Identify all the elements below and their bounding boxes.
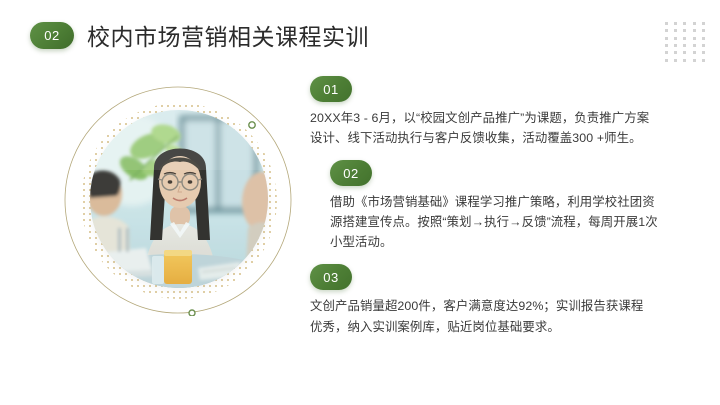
grid-dot bbox=[674, 37, 677, 40]
grid-dot bbox=[665, 22, 668, 25]
photo-decoration-group bbox=[62, 84, 294, 316]
grid-dot bbox=[693, 22, 696, 25]
grid-dot bbox=[683, 51, 686, 54]
block-number-badge-03: 03 bbox=[310, 264, 352, 290]
block-body-text-01: 20XX年3 - 6月，以“校园文创产品推广”为课题，负责推广方案设计、线下活动… bbox=[310, 108, 655, 148]
grid-dot bbox=[674, 59, 677, 62]
header-section-badge: 02 bbox=[30, 22, 74, 49]
content-block-02: 02 借助《市场营销基础》课程学习推广策略，利用学校社团资源搭建宣传点。按照“策… bbox=[330, 160, 670, 252]
page-title: 校内市场营销相关课程实训 bbox=[87, 18, 369, 52]
grid-dot bbox=[702, 44, 705, 47]
grid-dot bbox=[693, 44, 696, 47]
grid-dot bbox=[702, 22, 705, 25]
block-number-label: 03 bbox=[323, 270, 338, 285]
grid-dot bbox=[693, 59, 696, 62]
grid-dot bbox=[702, 37, 705, 40]
ring-marker-dot-bottom bbox=[189, 310, 195, 316]
grid-dot bbox=[693, 29, 696, 32]
block-number-label: 01 bbox=[323, 82, 338, 97]
grid-dot bbox=[702, 29, 705, 32]
grid-dot bbox=[702, 59, 705, 62]
grid-dot bbox=[665, 29, 668, 32]
grid-dot bbox=[683, 37, 686, 40]
slide-root: 02 校内市场营销相关课程实训 bbox=[0, 0, 720, 405]
grid-dot bbox=[674, 29, 677, 32]
grid-dot bbox=[665, 59, 668, 62]
grid-dot bbox=[674, 51, 677, 54]
grid-dot bbox=[674, 44, 677, 47]
grid-dot bbox=[665, 37, 668, 40]
block-body-text-02: 借助《市场营销基础》课程学习推广策略，利用学校社团资源搭建宣传点。按照“策划→执… bbox=[330, 192, 660, 252]
grid-dot bbox=[665, 51, 668, 54]
team-photo-illustration bbox=[90, 110, 268, 288]
dot-grid-decoration-icon bbox=[665, 22, 711, 66]
block-body-text-03: 文创产品销量超200件，客户满意度达92%；实训报告获课程优秀，纳入实训案例库，… bbox=[310, 296, 655, 336]
grid-dot bbox=[693, 51, 696, 54]
team-photo bbox=[90, 110, 268, 288]
grid-dot bbox=[702, 51, 705, 54]
grid-dot bbox=[683, 59, 686, 62]
content-block-03: 03 文创产品销量超200件，客户满意度达92%；实训报告获课程优秀，纳入实训案… bbox=[310, 264, 670, 336]
content-blocks: 01 20XX年3 - 6月，以“校园文创产品推广”为课题，负责推广方案设计、线… bbox=[310, 76, 670, 349]
content-block-01: 01 20XX年3 - 6月，以“校园文创产品推广”为课题，负责推广方案设计、线… bbox=[310, 76, 670, 148]
ring-marker-dot-top bbox=[249, 122, 255, 128]
grid-dot bbox=[683, 22, 686, 25]
grid-dot bbox=[665, 44, 668, 47]
grid-dot bbox=[683, 29, 686, 32]
grid-dot bbox=[693, 37, 696, 40]
grid-dot bbox=[683, 44, 686, 47]
header-badge-label: 02 bbox=[44, 28, 59, 43]
block-number-badge-02: 02 bbox=[330, 160, 372, 186]
grid-dot bbox=[674, 22, 677, 25]
block-number-badge-01: 01 bbox=[310, 76, 352, 102]
slide-header: 02 校内市场营销相关课程实训 bbox=[30, 18, 369, 52]
block-number-label: 02 bbox=[343, 166, 358, 181]
